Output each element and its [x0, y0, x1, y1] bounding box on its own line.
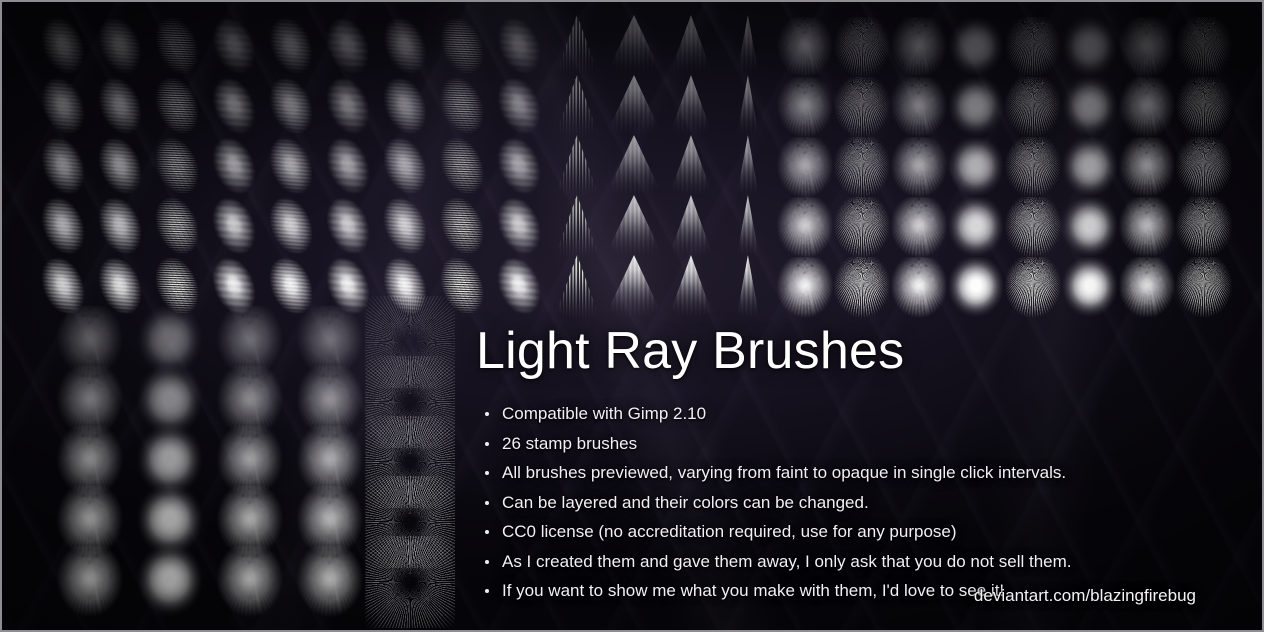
brush-preview-cell [662, 138, 719, 198]
brush-preview-cell [290, 312, 370, 372]
brush-preview-cell [210, 432, 290, 492]
brush-stamp-diagonal-streak [373, 130, 440, 207]
brush-preview-cell [1118, 18, 1175, 78]
brush-stamp-burst [56, 545, 124, 618]
text-block: Light Ray Brushes Compatible with Gimp 2… [476, 324, 1196, 608]
brush-stamp-burst-blob [1061, 77, 1119, 139]
brush-stamp-fan-ragged [550, 75, 604, 141]
footer-credit: deviantart.com/blazingfirebug [974, 586, 1196, 606]
brush-preview-cell [435, 18, 492, 78]
brush-preview-cell [719, 258, 776, 318]
brush-stamp-burst [776, 257, 834, 319]
brush-preview-cell [1061, 78, 1118, 138]
brush-preview-cell [290, 432, 370, 492]
brush-stamp-diagonal-streak-fine [430, 130, 497, 207]
brush-preview-cell [207, 138, 264, 198]
brush-stamp-diagonal-streak-soft [316, 190, 383, 267]
brush-stamp-fan-narrow [728, 135, 768, 201]
brush-preview-cell [833, 138, 890, 198]
feature-list-item: 26 stamp brushes [476, 431, 1196, 457]
brush-stamp-burst-spray [833, 257, 891, 319]
brush-stamp-diagonal-streak [88, 70, 155, 147]
brush-stamp-diagonal-streak-fine [430, 190, 497, 267]
brush-preview-cell [207, 18, 264, 78]
brush-preview-cell [290, 372, 370, 432]
brush-preview-cell [1175, 198, 1232, 258]
brush-stamp-diagonal-streak-soft [316, 130, 383, 207]
brush-preview-cell [378, 198, 435, 258]
brush-preview-cell [93, 138, 150, 198]
brush-stamp-diagonal-streak [31, 190, 98, 267]
brush-preview-cell [93, 78, 150, 138]
brush-stamp-diagonal-streak [373, 10, 440, 87]
brush-stamp-burst-spray [1175, 197, 1233, 259]
brush-stamp-diagonal-streak [88, 10, 155, 87]
brush-stamp-fan-narrow [728, 195, 768, 261]
brush-stamp-burst [1118, 77, 1176, 139]
bullet-dot-icon [485, 471, 489, 475]
brush-stamp-fan [664, 75, 718, 141]
brush-stamp-diagonal-streak-fine [145, 70, 212, 147]
brush-stamp-diagonal-streak-fine [145, 130, 212, 207]
brush-stamp-fan-narrow [728, 15, 768, 81]
brush-stamp-burst-spray [1175, 137, 1233, 199]
brush-stamp-diagonal-streak [259, 70, 326, 147]
brush-preview-cell [1118, 258, 1175, 318]
brush-preview-cell [207, 198, 264, 258]
brush-preview-cell [130, 312, 210, 372]
brush-preview-cell [50, 552, 130, 612]
brush-preview-cell [321, 198, 378, 258]
brush-preview-cell [130, 372, 210, 432]
brush-preview-cell [833, 258, 890, 318]
bullet-dot-icon [485, 530, 489, 534]
brush-stamp-diagonal-streak-soft [487, 130, 554, 207]
brush-stamp-burst-spray [1175, 257, 1233, 319]
brush-stamp-fan-ragged [550, 15, 604, 81]
brush-preview-cell [50, 432, 130, 492]
brush-stamp-fan-ragged [550, 135, 604, 201]
brush-preview-cell [606, 138, 663, 198]
brush-preview-cell [492, 78, 549, 138]
brush-preview-grid-top [36, 18, 1232, 318]
brush-preview-cell [290, 552, 370, 612]
brush-preview-cell [776, 198, 833, 258]
brush-preview-cell [890, 138, 947, 198]
brush-preview-cell [776, 138, 833, 198]
brush-preview-cell [321, 78, 378, 138]
brush-stamp-diagonal-streak-soft [202, 130, 269, 207]
brush-stamp-burst [776, 197, 834, 259]
promo-canvas: Light Ray Brushes Compatible with Gimp 2… [0, 0, 1264, 632]
brush-preview-cell [947, 78, 1004, 138]
feature-list-item-label: If you want to show me what you make wit… [502, 581, 1004, 600]
bullet-dot-icon [485, 442, 489, 446]
brush-preview-cell [719, 78, 776, 138]
brush-preview-cell [492, 18, 549, 78]
brush-preview-cell [130, 432, 210, 492]
brush-stamp-burst [1118, 197, 1176, 259]
brush-preview-cell [210, 372, 290, 432]
brush-stamp-burst-spray [833, 137, 891, 199]
brush-preview-cell [947, 138, 1004, 198]
feature-list-item-label: Compatible with Gimp 2.10 [502, 404, 706, 423]
brush-preview-cell [719, 198, 776, 258]
brush-stamp-burst-blob [947, 77, 1005, 139]
brush-preview-cell [492, 138, 549, 198]
brush-preview-cell [150, 198, 207, 258]
brush-preview-cell [210, 312, 290, 372]
brush-stamp-burst [890, 77, 948, 139]
brush-preview-cell [776, 18, 833, 78]
brush-preview-cell [776, 78, 833, 138]
brush-stamp-fan-wide [603, 15, 665, 81]
feature-list-item: Can be layered and their colors can be c… [476, 490, 1196, 516]
brush-preview-cell [1061, 258, 1118, 318]
brush-preview-cell [1175, 258, 1232, 318]
brush-stamp-burst [776, 137, 834, 199]
brush-stamp-burst-blob [947, 197, 1005, 259]
brush-preview-cell [947, 258, 1004, 318]
brush-preview-cell [321, 138, 378, 198]
brush-preview-cell [549, 258, 606, 318]
brush-stamp-diagonal-streak-soft [487, 10, 554, 87]
brush-stamp-burst [890, 17, 948, 79]
brush-preview-cell [1118, 198, 1175, 258]
feature-list: Compatible with Gimp 2.1026 stamp brushe… [476, 401, 1196, 604]
brush-preview-cell [264, 78, 321, 138]
brush-preview-cell [378, 78, 435, 138]
brush-preview-cell [378, 18, 435, 78]
brush-preview-cell [264, 18, 321, 78]
brush-stamp-fan-ragged [550, 195, 604, 261]
brush-stamp-diagonal-streak-soft [316, 70, 383, 147]
brush-stamp-diagonal-streak-soft [202, 190, 269, 267]
brush-preview-cell [1118, 78, 1175, 138]
brush-preview-cell [890, 258, 947, 318]
brush-preview-cell [36, 18, 93, 78]
feature-list-item: As I created them and gave them away, I … [476, 549, 1196, 575]
bullet-dot-icon [485, 501, 489, 505]
brush-preview-grid-lower-left [50, 312, 450, 612]
brush-stamp-burst-spray [1004, 257, 1062, 319]
brush-stamp-fan-narrow [728, 255, 768, 321]
brush-stamp-fan-wide [603, 135, 665, 201]
brush-stamp-diagonal-streak [88, 130, 155, 207]
brush-stamp-burst [1118, 137, 1176, 199]
brush-stamp-burst-spray [833, 197, 891, 259]
brush-preview-cell [1118, 138, 1175, 198]
brush-preview-cell [606, 258, 663, 318]
brush-preview-cell [833, 198, 890, 258]
brush-preview-cell [93, 18, 150, 78]
brush-stamp-diagonal-streak [31, 130, 98, 207]
brush-stamp-burst-spray [833, 77, 891, 139]
brush-preview-cell [890, 198, 947, 258]
feature-list-item-label: CC0 license (no accreditation required, … [502, 522, 957, 541]
brush-stamp-diagonal-streak-soft [487, 70, 554, 147]
brush-stamp-burst-spray [1004, 197, 1062, 259]
brush-preview-cell [1004, 258, 1061, 318]
brush-stamp-diagonal-streak-soft [316, 10, 383, 87]
brush-stamp-burst-spray [1175, 17, 1233, 79]
brush-preview-cell [947, 198, 1004, 258]
brush-preview-cell [207, 78, 264, 138]
brush-preview-cell [662, 78, 719, 138]
brush-preview-cell [776, 258, 833, 318]
brush-stamp-fan [664, 195, 718, 261]
bullet-dot-icon [485, 589, 489, 593]
brush-stamp-burst [296, 545, 364, 618]
brush-stamp-diagonal-streak-soft [202, 70, 269, 147]
brush-stamp-burst-blob [947, 17, 1005, 79]
brush-preview-cell [549, 78, 606, 138]
brush-preview-cell [264, 198, 321, 258]
feature-list-item: Compatible with Gimp 2.10 [476, 401, 1196, 427]
brush-preview-cell [1175, 18, 1232, 78]
brush-preview-cell [50, 372, 130, 432]
brush-preview-cell [947, 18, 1004, 78]
brush-stamp-fan [664, 15, 718, 81]
brush-preview-cell [36, 138, 93, 198]
brush-preview-cell [1004, 18, 1061, 78]
brush-preview-cell [1004, 138, 1061, 198]
brush-preview-cell [435, 78, 492, 138]
brush-stamp-diagonal-streak-fine [145, 190, 212, 267]
feature-list-item: CC0 license (no accreditation required, … [476, 519, 1196, 545]
brush-preview-cell [50, 492, 130, 552]
brush-preview-cell [492, 258, 549, 318]
brush-stamp-diagonal-streak-soft [487, 250, 554, 327]
brush-preview-cell [36, 198, 93, 258]
brush-preview-cell [606, 18, 663, 78]
brush-stamp-burst-spray [1175, 77, 1233, 139]
brush-preview-cell [130, 492, 210, 552]
brush-stamp-diagonal-streak [373, 190, 440, 267]
brush-preview-cell [719, 138, 776, 198]
brush-stamp-diagonal-streak-fine [430, 70, 497, 147]
brush-stamp-burst [776, 77, 834, 139]
brush-preview-cell [662, 198, 719, 258]
brush-preview-cell [1175, 138, 1232, 198]
brush-preview-cell [290, 492, 370, 552]
brush-stamp-burst-blob [1061, 17, 1119, 79]
brush-stamp-burst-spray [833, 17, 891, 79]
brush-stamp-burst-blob [947, 137, 1005, 199]
feature-list-item-label: Can be layered and their colors can be c… [502, 493, 869, 512]
brush-stamp-diagonal-streak-soft [202, 10, 269, 87]
page-title: Light Ray Brushes [476, 324, 1196, 379]
brush-preview-cell [1004, 78, 1061, 138]
brush-preview-cell [435, 138, 492, 198]
feature-list-item-label: All brushes previewed, varying from fain… [502, 463, 1066, 482]
brush-stamp-fan-wide [603, 75, 665, 141]
brush-stamp-burst-blob [1061, 257, 1119, 319]
brush-preview-cell [1061, 138, 1118, 198]
brush-stamp-burst-spray [1004, 77, 1062, 139]
brush-stamp-diagonal-streak [259, 10, 326, 87]
brush-stamp-burst-blob [1061, 197, 1119, 259]
brush-preview-cell [150, 78, 207, 138]
brush-preview-cell [1061, 198, 1118, 258]
bullet-dot-icon [485, 560, 489, 564]
brush-stamp-burst [890, 257, 948, 319]
bullet-dot-icon [485, 412, 489, 416]
brush-preview-cell [719, 18, 776, 78]
brush-preview-cell [549, 198, 606, 258]
brush-preview-cell [890, 18, 947, 78]
brush-stamp-burst [1118, 257, 1176, 319]
brush-stamp-burst-spray [1004, 17, 1062, 79]
brush-stamp-diagonal-streak [373, 70, 440, 147]
brush-stamp-fan-ragged [550, 255, 604, 321]
brush-preview-cell [1004, 198, 1061, 258]
feature-list-item-label: As I created them and gave them away, I … [502, 552, 1072, 571]
brush-preview-cell [435, 198, 492, 258]
brush-preview-cell [150, 18, 207, 78]
brush-stamp-burst [776, 17, 834, 79]
brush-stamp-starburst [365, 536, 455, 628]
brush-stamp-diagonal-streak-fine [430, 10, 497, 87]
brush-stamp-fan [664, 255, 718, 321]
brush-preview-cell [606, 78, 663, 138]
brush-preview-cell [1061, 18, 1118, 78]
brush-stamp-fan-narrow [728, 75, 768, 141]
brush-stamp-fan-wide [603, 195, 665, 261]
brush-stamp-burst-blob [947, 257, 1005, 319]
brush-stamp-diagonal-streak [259, 130, 326, 207]
brush-stamp-burst-blob [1061, 137, 1119, 199]
brush-stamp-burst [890, 137, 948, 199]
brush-stamp-fan-wide [603, 255, 665, 321]
brush-preview-cell [370, 552, 450, 612]
brush-stamp-burst [216, 545, 284, 618]
brush-preview-cell [606, 198, 663, 258]
brush-stamp-diagonal-streak [259, 190, 326, 267]
brush-preview-cell [321, 18, 378, 78]
brush-preview-cell [36, 78, 93, 138]
brush-stamp-diagonal-streak-fine [145, 10, 212, 87]
brush-preview-cell [150, 138, 207, 198]
brush-preview-cell [890, 78, 947, 138]
brush-stamp-burst-spray [1004, 137, 1062, 199]
brush-preview-cell [549, 138, 606, 198]
feature-list-item-label: 26 stamp brushes [502, 434, 637, 453]
brush-preview-cell [1175, 78, 1232, 138]
brush-stamp-burst [890, 197, 948, 259]
brush-preview-cell [264, 138, 321, 198]
brush-preview-cell [833, 78, 890, 138]
brush-preview-cell [50, 312, 130, 372]
brush-preview-cell [210, 552, 290, 612]
brush-stamp-diagonal-streak [31, 70, 98, 147]
brush-preview-cell [492, 198, 549, 258]
brush-stamp-burst-blob [136, 545, 204, 618]
brush-stamp-burst [1118, 17, 1176, 79]
brush-preview-cell [210, 492, 290, 552]
brush-preview-cell [549, 18, 606, 78]
brush-stamp-diagonal-streak [31, 10, 98, 87]
brush-preview-cell [93, 198, 150, 258]
feature-list-item: All brushes previewed, varying from fain… [476, 460, 1196, 486]
brush-stamp-diagonal-streak-soft [487, 190, 554, 267]
brush-preview-cell [378, 138, 435, 198]
brush-preview-cell [662, 258, 719, 318]
brush-preview-cell [662, 18, 719, 78]
brush-stamp-diagonal-streak [88, 190, 155, 267]
brush-preview-cell [130, 552, 210, 612]
brush-stamp-fan [664, 135, 718, 201]
brush-preview-cell [833, 18, 890, 78]
